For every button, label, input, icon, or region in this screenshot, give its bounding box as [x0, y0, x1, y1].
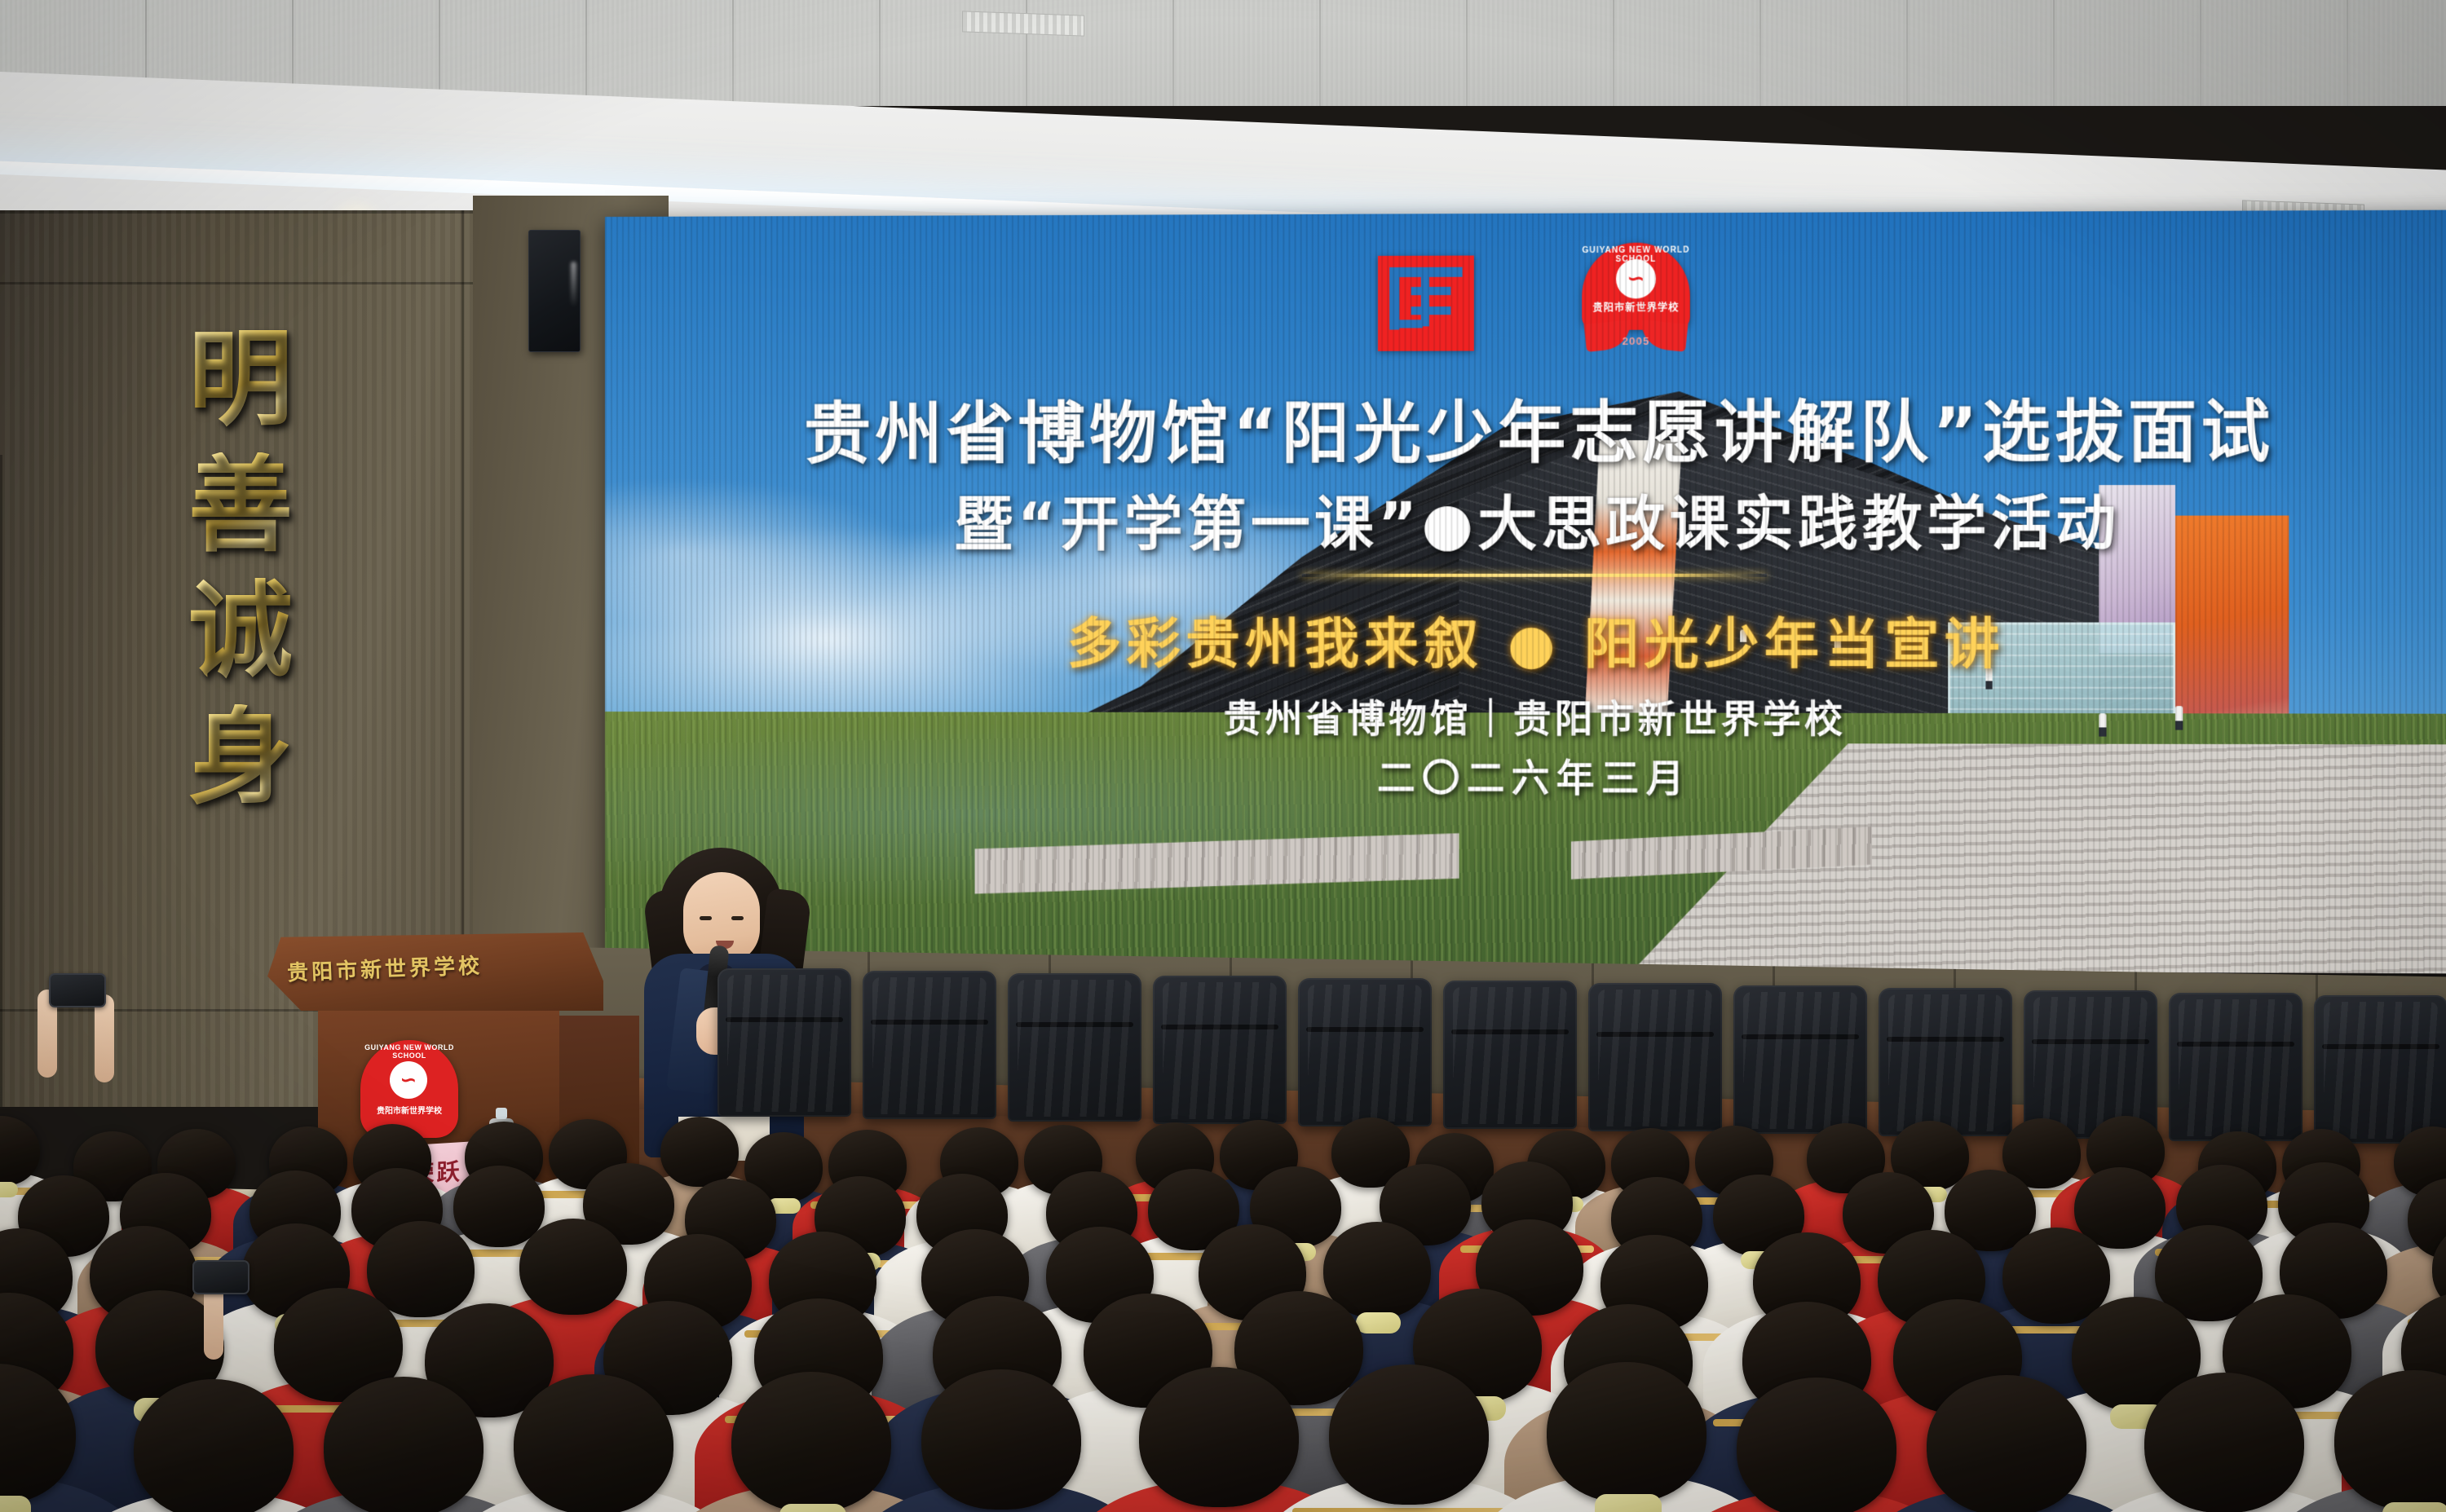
ceiling-tile: [1908, 0, 2055, 106]
hair-tie: [779, 1504, 846, 1512]
audience-member-head: [1329, 1364, 1489, 1505]
audience-member-head: [2002, 1228, 2110, 1324]
ceiling-tile: [587, 0, 734, 106]
ceiling-tile: [1614, 0, 1761, 106]
audience-member-head: [660, 1117, 739, 1187]
audience-member-head: [1139, 1367, 1299, 1507]
hair-tie: [1356, 1312, 1401, 1333]
audience-crowd: [0, 1003, 2446, 1512]
screen-text-block: 贵州省博物馆“阳光少年志愿讲解队”选拔面试 暨“开学第一课”●大思政课实践教学活…: [605, 209, 2446, 973]
audience-member-head: [1927, 1375, 2086, 1512]
auditorium-scene: 明 善 诚 身: [0, 0, 2446, 1512]
screen-slogan: 多彩贵州我来叙 ● 阳光少年当宣讲: [605, 600, 2446, 680]
audience-member-head: [453, 1166, 545, 1247]
screen-date: 二〇二六年三月: [605, 747, 2446, 804]
audience-member-head: [514, 1374, 673, 1512]
wall-calligraphy: 明 善 诚 身: [147, 326, 334, 810]
ceiling-tile: [734, 0, 881, 106]
audience-member-head: [731, 1372, 891, 1512]
calligraphy-char-2: 善: [188, 452, 293, 559]
screen-title-sub: 暨“开学第一课”●大思政课实践教学活动: [605, 474, 2446, 562]
ceiling-tile: [1174, 0, 1321, 106]
audience-member-head: [324, 1377, 483, 1512]
led-screen: GUIYANG NEW WORLD SCHOOL ∽ 贵阳市新世界学校 2005…: [605, 209, 2446, 973]
screen-title-main: 贵州省博物馆“阳光少年志愿讲解队”选拔面试: [605, 376, 2446, 477]
hair-tie: [0, 1496, 31, 1512]
ceiling-tile: [1321, 0, 1468, 106]
raised-arm: [95, 994, 114, 1082]
hair-tie: [1595, 1494, 1662, 1512]
calligraphy-char-1: 明: [188, 326, 293, 433]
audience-member-head: [519, 1219, 627, 1315]
audience-member-head: [1547, 1362, 1706, 1502]
calligraphy-char-3: 诚: [188, 578, 293, 685]
audience-member-head: [2144, 1373, 2304, 1512]
air-vent: [962, 11, 1084, 36]
audience-member-head: [1737, 1378, 1896, 1512]
ceiling-tile: [1761, 0, 1908, 106]
uniform-collar-stripe: [1292, 1508, 1525, 1512]
calligraphy-char-4: 身: [188, 704, 293, 811]
hair-tie: [0, 1182, 18, 1197]
screen-divider-rule: [1302, 574, 1767, 577]
smartphone-icon: [192, 1260, 249, 1294]
audience-member-head: [367, 1221, 475, 1317]
smartphone-icon: [49, 973, 106, 1007]
audience-member-head: [921, 1369, 1081, 1510]
wall-speaker: [528, 230, 581, 352]
screen-organizers: 贵州省博物馆｜贵阳市新世界学校: [605, 688, 2446, 744]
ceiling-tile: [2201, 0, 2348, 106]
hair-tie: [2382, 1502, 2446, 1512]
ceiling-tile: [2348, 0, 2446, 106]
ceiling-tile: [1468, 0, 1614, 106]
audience-member-head: [134, 1379, 294, 1512]
ceiling-tile: [2055, 0, 2201, 106]
